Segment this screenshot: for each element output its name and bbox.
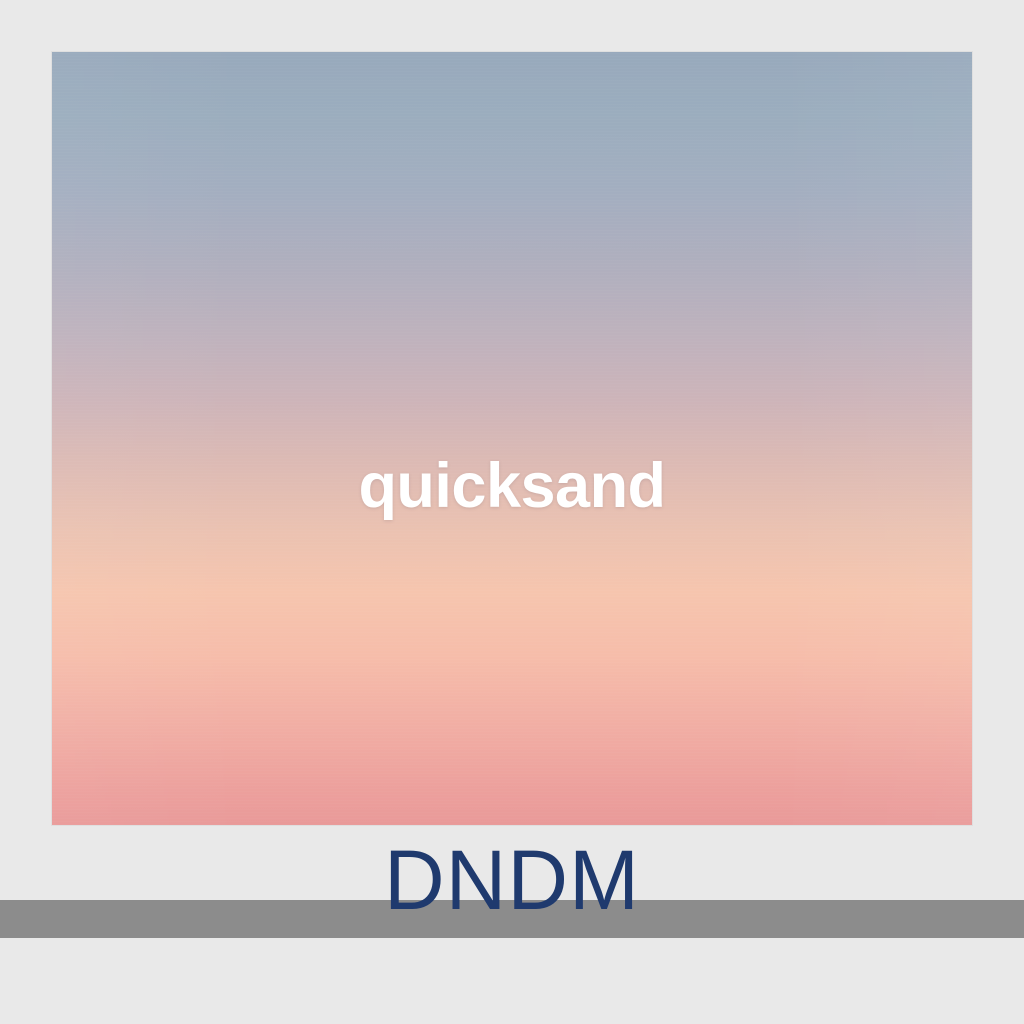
artwork-grain-overlay bbox=[52, 52, 972, 825]
track-title: quicksand bbox=[0, 455, 1024, 518]
album-artwork-image bbox=[52, 52, 972, 825]
artwork-sheen-overlay bbox=[52, 52, 972, 825]
album-cover-canvas: quicksand DNDM bbox=[0, 0, 1024, 1024]
artist-name: DNDM bbox=[0, 838, 1024, 922]
